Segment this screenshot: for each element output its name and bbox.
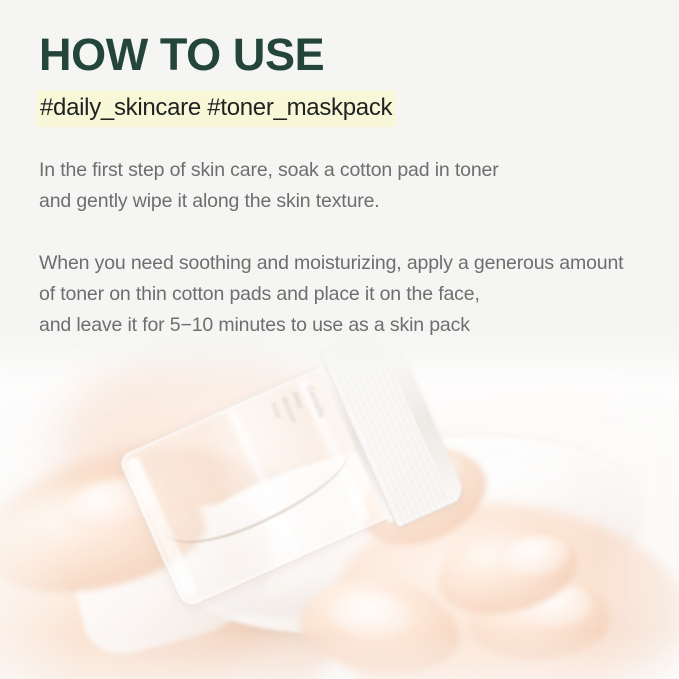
page-title: HOW TO USE: [39, 32, 324, 77]
instruction-paragraph-2: When you need soothing and moisturizing,…: [39, 248, 623, 341]
bottle-label-line-2: Deep: [291, 391, 304, 409]
product-usage-photo: Centella Deep Moisture Toner: [0, 330, 679, 679]
how-to-use-page: Centella Deep Moisture Toner HOW TO USE …: [0, 0, 679, 679]
hashtag-text: #daily_skincare #toner_maskpack: [36, 90, 396, 127]
instruction-paragraph-1: In the first step of skin care, soak a c…: [39, 155, 499, 217]
bottle-label-line-4: Toner: [269, 401, 283, 420]
photo-inner: Centella Deep Moisture Toner: [0, 330, 679, 679]
text-content-area: HOW TO USE #daily_skincare #toner_maskpa…: [0, 0, 679, 360]
hashtag-row: #daily_skincare #toner_maskpack: [36, 90, 396, 127]
